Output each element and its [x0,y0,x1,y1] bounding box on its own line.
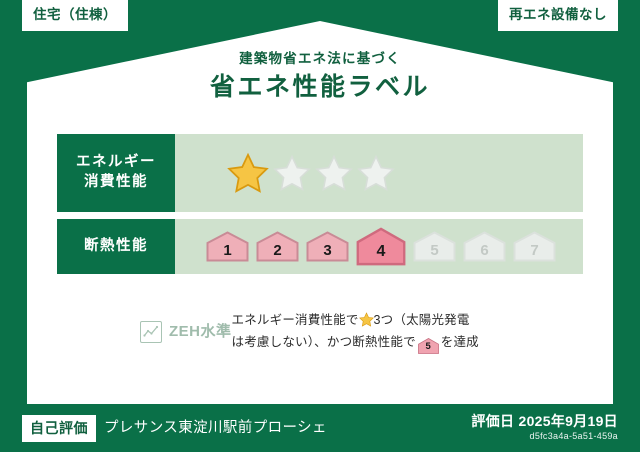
energy-performance-row: エネルギー 消費性能 [57,134,583,212]
evaluation-meta: 評価日 2025年9月19日 d5fc3a4a-5a51-459a [471,413,618,442]
grade-badge-off: 6 [463,231,506,262]
grade-value: 2 [273,243,281,258]
star-icon [359,312,374,327]
insulation-grade-scale: 1234567 [175,219,583,274]
grade-value: 1 [223,243,231,258]
title-main: 省エネ性能ラベル [0,75,640,100]
renewable-energy-tag: 再エネ設備なし [498,0,618,31]
evaluation-date-label: 評価日 [471,413,514,429]
star-icon-empty [315,154,353,192]
evaluation-id: d5fc3a4a-5a51-459a [471,430,618,443]
grade-badge-on: 4 [356,227,406,266]
grade-value: 5 [430,243,438,258]
desc-part2: 3つ（太陽光発電 [374,313,470,327]
energy-label-line2: 消費性能 [84,173,148,193]
insulation-label-line1: 断熱性能 [84,237,148,257]
star-icon-filled [227,152,269,194]
desc-part4: を達成 [441,335,479,349]
self-evaluation-badge: 自己評価 [22,415,96,442]
evaluation-date-value: 2025年9月19日 [518,413,618,429]
desc-part1: エネルギー消費性能で [232,313,359,327]
star-rating [175,134,583,212]
inline-grade-badge: 5 [418,338,439,354]
title-subtitle: 建築物省エネ法に基づく [0,52,640,66]
energy-performance-label: 住宅（住棟） 再エネ設備なし 建築物省エネ法に基づく 省エネ性能ラベル エネルギ… [0,0,640,452]
grade-value: 3 [323,243,331,258]
insulation-performance-label-box: 断熱性能 [57,219,175,274]
grade-value: 6 [480,243,488,258]
building-type-tag: 住宅（住棟） [22,0,128,31]
desc-part3: は考慮しない）、かつ断熱性能で [232,335,416,349]
note-section: ZEH水準 エネルギー消費性能で3つ（太陽光発電は考慮しない）、かつ断熱性能で5… [57,310,583,354]
star-icon-empty [273,154,311,192]
label-footer: 自己評価 プレサンス東淀川駅前プローシェ 評価日 2025年9月19日 d5fc… [0,404,640,452]
grade-badge-off: 5 [413,231,456,262]
energy-label-line1: エネルギー [76,153,156,173]
title-block: 建築物省エネ法に基づく 省エネ性能ラベル [0,52,640,100]
chart-line-icon [140,321,162,343]
zeh-label: ZEH水準 [169,324,232,339]
grade-badge-on: 3 [306,231,349,262]
energy-performance-label-box: エネルギー 消費性能 [57,134,175,212]
insulation-performance-row: 断熱性能 1234567 [57,219,583,274]
metrics-section: エネルギー 消費性能 断熱性能 1234567 [57,134,583,281]
grade-value: 7 [530,243,538,258]
evaluation-date: 評価日 2025年9月19日 [471,413,618,430]
grade-badge-on: 1 [206,231,249,262]
grade-value: 4 [377,244,386,260]
grade-badge-on: 2 [256,231,299,262]
zeh-standard-mark: ZEH水準 [57,321,232,343]
star-icon-empty [357,154,395,192]
property-name: プレサンス東淀川駅前プローシェ [104,421,327,436]
grade-badge-off: 7 [513,231,556,262]
achievement-description: エネルギー消費性能で3つ（太陽光発電は考慮しない）、かつ断熱性能で5を達成 [232,310,583,354]
inline-grade-value: 5 [418,338,439,355]
